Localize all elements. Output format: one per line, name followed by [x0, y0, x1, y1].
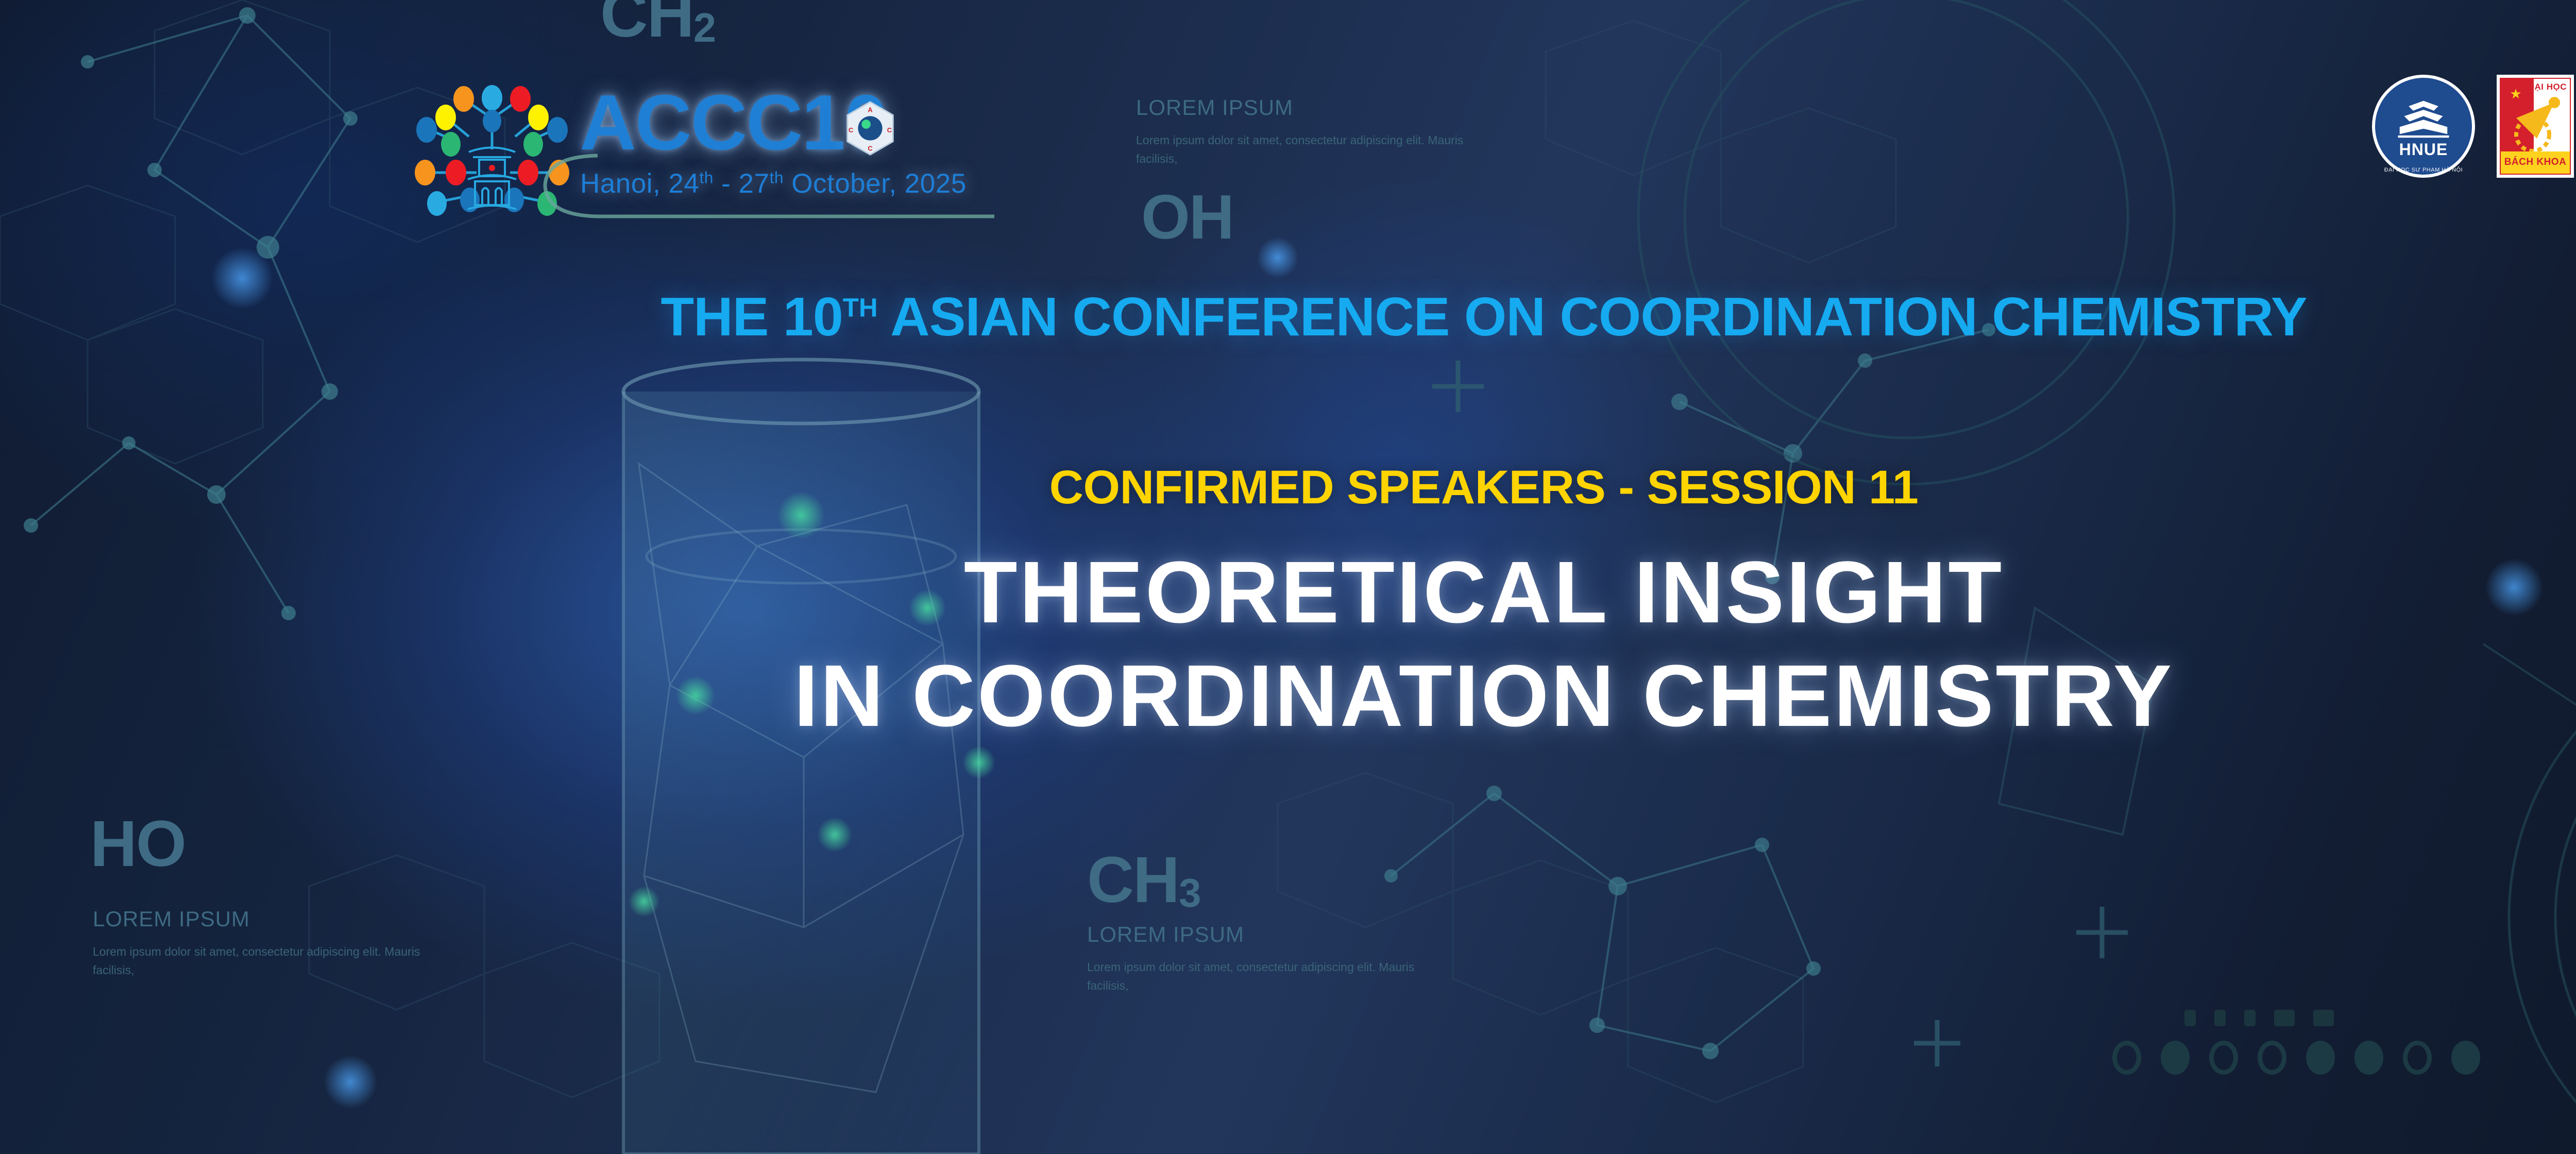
logo-hnue[interactable]: HNUE ĐẠI HỌC SƯ PHẠM HÀ NỘI [2372, 75, 2475, 178]
formula-ch2: CH2 [600, 0, 716, 47]
decorative-dot [2258, 1041, 2286, 1075]
decorative-dot [2403, 1041, 2432, 1075]
accc10-logo[interactable]: ACCC10 A C C C Hanoi, 24th - 27th Octobe… [407, 67, 984, 216]
svg-text:C: C [887, 126, 892, 134]
gear-compass-icon [2501, 88, 2571, 160]
decorative-square [2274, 1010, 2295, 1026]
decorative-square-strip [2184, 1010, 2334, 1026]
formula-oh: OH [1141, 185, 1233, 248]
lorem-title: LOREM IPSUM [1087, 922, 1448, 947]
decorative-dot-strip [2112, 1041, 2480, 1075]
decorative-dot [2161, 1041, 2190, 1075]
decorative-dot [2306, 1041, 2335, 1075]
decorative-dot [2354, 1041, 2383, 1075]
decorative-square [2184, 1010, 2196, 1026]
conference-banner: CH2 OH HO CH3 LOREM IPSUM Lorem ipsum do… [0, 0, 2576, 1154]
session-headline: THEORETICAL INSIGHT IN COORDINATION CHEM… [0, 541, 2576, 748]
conference-title: THE 10TH ASIAN CONFERENCE ON COORDINATIO… [0, 290, 2576, 344]
title-prefix: THE 10 [660, 286, 842, 347]
logo-bach-khoa[interactable]: ★ ĐẠI HỌC BÁCH KHOA [2497, 75, 2574, 178]
hnue-acronym: HNUE [2399, 140, 2448, 159]
partner-logo-row: HNUE ĐẠI HỌC SƯ PHẠM HÀ NỘI ★ ĐẠI HỌC BÁ… [2372, 73, 2576, 179]
session-label: CONFIRMED SPEAKERS - SESSION 11 [0, 464, 2576, 511]
decorative-square [2313, 1010, 2334, 1026]
open-book-icon [2389, 93, 2458, 142]
title-suffix: ASIAN CONFERENCE ON COORDINATION CHEMIST… [878, 286, 2307, 347]
lorem-body: Lorem ipsum dolor sit amet, consectetur … [93, 943, 453, 979]
decorative-dot [2209, 1041, 2238, 1075]
lorem-body: Lorem ipsum dolor sit amet, consectetur … [1136, 131, 1497, 168]
svg-text:A: A [868, 106, 872, 114]
lorem-title: LOREM IPSUM [93, 907, 453, 931]
svg-text:C: C [849, 126, 853, 134]
lorem-block-top: LOREM IPSUM Lorem ipsum dolor sit amet, … [1136, 95, 1497, 168]
decorative-dot [2451, 1041, 2480, 1075]
formula-ho: HO [90, 811, 185, 876]
hnue-subtitle: ĐẠI HỌC SƯ PHẠM HÀ NỘI [2372, 167, 2475, 173]
lorem-block-left: LOREM IPSUM Lorem ipsum dolor sit amet, … [93, 907, 453, 979]
lorem-body: Lorem ipsum dolor sit amet, consectetur … [1087, 958, 1448, 995]
lorem-title: LOREM IPSUM [1136, 95, 1497, 120]
headline-line-2: IN COORDINATION CHEMISTRY [0, 644, 2576, 748]
formula-ch3: CH3 [1087, 847, 1201, 912]
decorative-dot [2112, 1041, 2141, 1075]
title-ordinal: TH [843, 293, 878, 323]
lorem-block-center: LOREM IPSUM Lorem ipsum dolor sit amet, … [1087, 922, 1448, 995]
accc10-date: Hanoi, 24th - 27th October, 2025 [580, 168, 967, 199]
bk-band-text: BÁCH KHOA [2504, 157, 2567, 168]
decorative-square [2214, 1010, 2226, 1026]
bk-band: BÁCH KHOA [2501, 151, 2570, 173]
headline-line-1: THEORETICAL INSIGHT [0, 541, 2576, 644]
decorative-square [2244, 1010, 2256, 1026]
